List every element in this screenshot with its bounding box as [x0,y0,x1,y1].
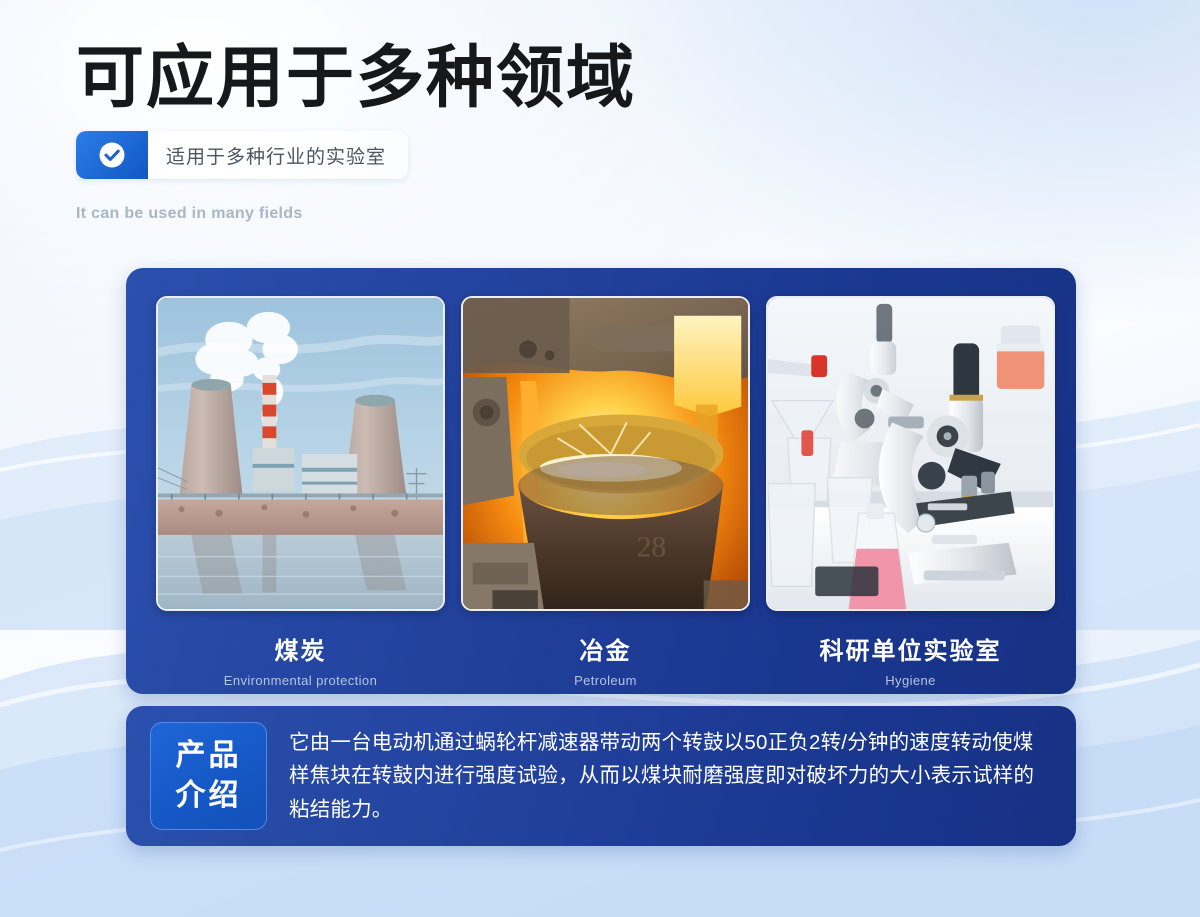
application-card-subtitle: Petroleum [461,673,750,688]
application-card[interactable]: 28 冶金 Petroleum [461,296,750,688]
application-card-title: 科研单位实验室 [766,631,1055,666]
molten-metal-ladle-furnace-photo: 28 [461,296,750,611]
applications-panel: 煤炭 Environmental protection [126,268,1076,694]
svg-text:28: 28 [637,532,667,564]
power-plant-cooling-towers-photo [156,296,445,611]
product-description-text: 它由一台电动机通过蜗轮杆减速器带动两个转鼓以50正负2转/分钟的速度转动使煤样焦… [289,726,1052,826]
page-header: 可应用于多种领域 适用于多种行业的实验室 It can be used in m… [76,42,636,223]
application-card-title: 煤炭 [156,631,445,666]
page-title: 可应用于多种领域 [76,42,636,115]
application-card-title: 冶金 [461,631,750,666]
page-subtitle: It can be used in many fields [76,205,636,223]
application-card[interactable]: 科研单位实验室 Hygiene [766,296,1055,688]
product-description-tag-line1: 产品 [176,736,242,776]
promo-page: 可应用于多种领域 适用于多种行业的实验室 It can be used in m… [0,0,1200,917]
application-card-subtitle: Environmental protection [156,673,445,688]
feature-badge: 适用于多种行业的实验室 [76,131,408,179]
product-description-tag-line2: 介绍 [176,776,242,816]
laboratory-microscopes-photo [766,296,1055,611]
feature-badge-label: 适用于多种行业的实验室 [148,131,408,179]
application-card-subtitle: Hygiene [766,673,1055,688]
application-card[interactable]: 煤炭 Environmental protection [156,296,445,688]
product-description-panel: 产品 介绍 它由一台电动机通过蜗轮杆减速器带动两个转鼓以50正负2转/分钟的速度… [126,706,1076,846]
application-card-list: 煤炭 Environmental protection [156,296,1046,688]
product-description-tag: 产品 介绍 [150,722,267,830]
check-circle-icon [76,131,148,179]
